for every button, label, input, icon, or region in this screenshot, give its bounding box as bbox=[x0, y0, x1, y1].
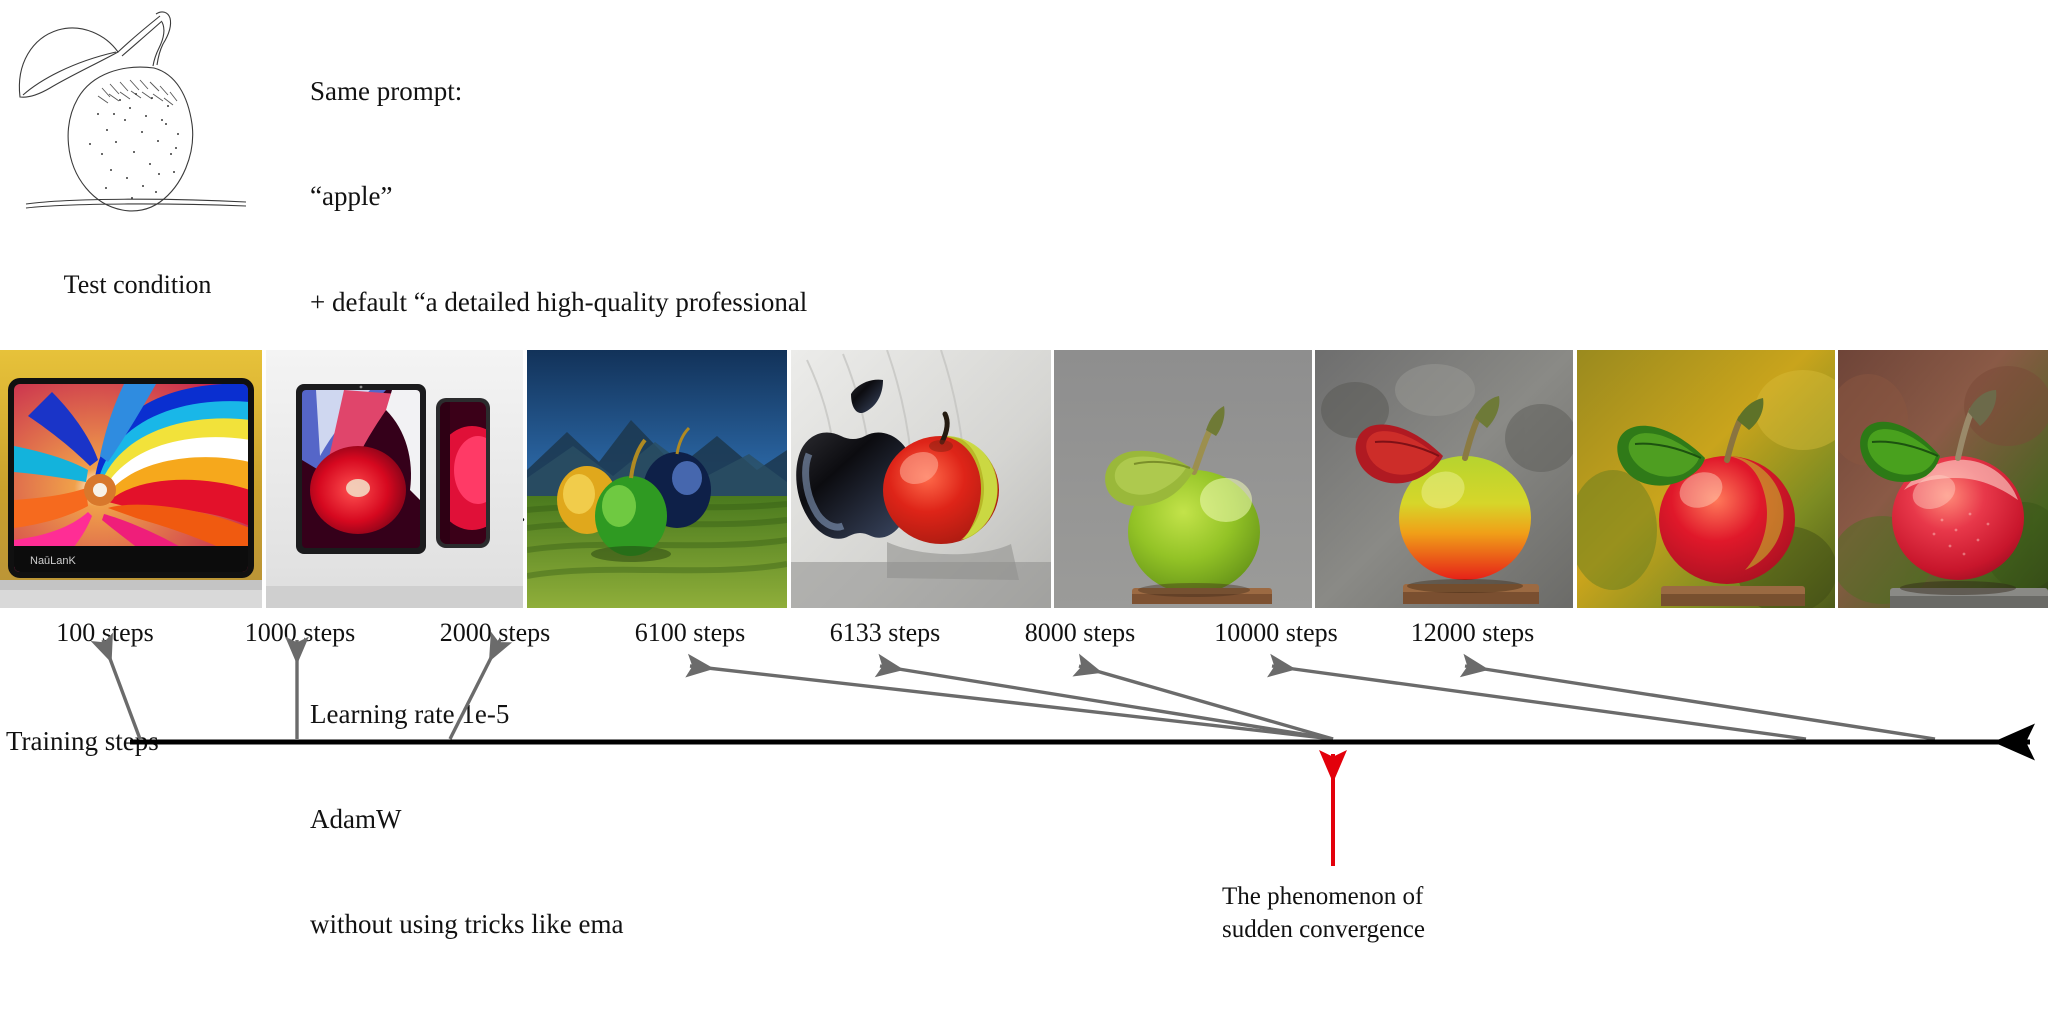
connector-arrow-6133 bbox=[880, 666, 1333, 739]
sample-image-100-steps[interactable]: NaūLanK bbox=[0, 350, 262, 608]
sample-image-2000-steps[interactable] bbox=[527, 350, 787, 608]
sample-image-1000-steps[interactable] bbox=[266, 350, 523, 608]
sudden-convergence-caption: The phenomenon of sudden convergence bbox=[1222, 880, 1552, 946]
caption-line-2: sudden convergence bbox=[1222, 913, 1552, 946]
sample-image-strip: NaūLanK bbox=[0, 350, 2048, 608]
prompt-line-1: Same prompt: bbox=[310, 74, 1050, 109]
slide-canvas: Test condition Same prompt: “apple” + de… bbox=[0, 0, 2048, 968]
prompt-line-2: “apple” bbox=[310, 179, 1050, 214]
svg-text:NaūLanK: NaūLanK bbox=[30, 555, 77, 567]
timeline-vector-layer bbox=[0, 608, 2048, 968]
prompt-line-3: + default “a detailed high-quality profe… bbox=[310, 285, 1050, 320]
caption-line-1: The phenomenon of bbox=[1222, 880, 1552, 913]
apple-line-drawing-icon bbox=[10, 2, 265, 252]
sample-image-10000-steps[interactable] bbox=[1577, 350, 1835, 608]
connector-arrow-2000 bbox=[450, 640, 500, 739]
sample-image-6100-steps[interactable] bbox=[791, 350, 1051, 608]
test-condition-caption: Test condition bbox=[10, 270, 265, 300]
sample-image-6133-steps[interactable] bbox=[1054, 350, 1312, 608]
connector-arrow-100 bbox=[103, 640, 140, 739]
sample-image-8000-steps[interactable] bbox=[1315, 350, 1573, 608]
connector-arrow-6100 bbox=[690, 666, 1333, 739]
sample-image-12000-steps[interactable] bbox=[1838, 350, 2048, 608]
